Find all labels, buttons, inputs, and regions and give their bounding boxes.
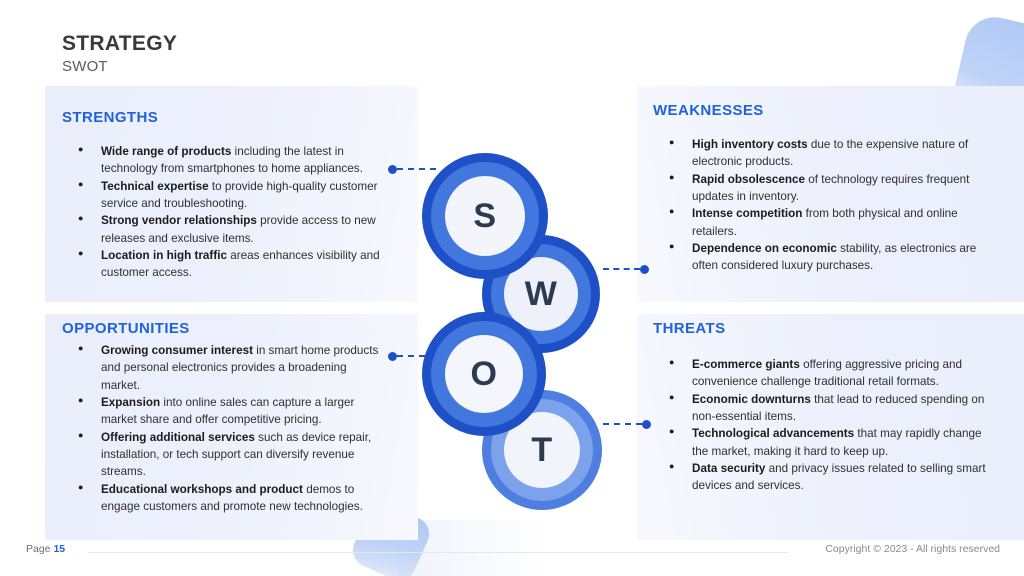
bullet-lead: Growing consumer interest xyxy=(101,344,253,357)
bullet-item: Technical expertise to provide high-qual… xyxy=(70,178,385,213)
bullet-lead: Dependence on economic xyxy=(692,242,837,255)
bullet-lead: Technical expertise xyxy=(101,180,209,193)
bullet-item: Intense competition from both physical a… xyxy=(661,205,1001,240)
bullet-lead: Data security xyxy=(692,462,765,475)
bullet-item: Wide range of products including the lat… xyxy=(70,143,385,178)
bullet-item: Educational workshops and product demos … xyxy=(70,481,388,516)
bullet-item: Offering additional services such as dev… xyxy=(70,429,388,481)
swot-letter-t: T xyxy=(531,431,552,470)
bullet-list-strengths: Wide range of products including the lat… xyxy=(70,143,385,282)
page-title: STRATEGY xyxy=(62,32,177,55)
bullet-item: Expansion into online sales can capture … xyxy=(70,394,388,429)
bullet-lead: Rapid obsolescence xyxy=(692,173,805,186)
bullet-item: E-commerce giants offering aggressive pr… xyxy=(661,356,994,391)
header: STRATEGY SWOT xyxy=(62,32,177,75)
swot-circle-strengths: S xyxy=(422,153,548,279)
heading-opportunities: OPPORTUNITIES xyxy=(62,320,190,337)
bullet-list-threats: E-commerce giants offering aggressive pr… xyxy=(661,356,994,495)
bullet-lead: E-commerce giants xyxy=(692,358,800,371)
bullet-list-opportunities: Growing consumer interest in smart home … xyxy=(70,342,388,515)
bullet-item: High inventory costs due to the expensiv… xyxy=(661,136,1001,171)
bullet-item: Rapid obsolescence of technology require… xyxy=(661,171,1001,206)
footer-page-indicator: Page 15 xyxy=(26,543,65,555)
heading-strengths: STRENGTHS xyxy=(62,109,158,126)
swot-letter-w: W xyxy=(525,275,558,314)
heading-threats: THREATS xyxy=(653,320,726,337)
bullet-lead: Intense competition xyxy=(692,207,802,220)
slide-canvas: STRATEGY SWOT STRENGTHS WEAKNESSES OPPOR… xyxy=(0,0,1024,576)
swot-letter-s: S xyxy=(473,197,496,236)
bullet-lead: Offering additional services xyxy=(101,431,255,444)
bullet-item: Growing consumer interest in smart home … xyxy=(70,342,388,394)
footer-page-label: Page xyxy=(26,543,51,555)
bullet-lead: Educational workshops and product xyxy=(101,483,303,496)
footer-page-number: 15 xyxy=(53,543,65,555)
heading-weaknesses: WEAKNESSES xyxy=(653,102,764,119)
footer-copyright: Copyright © 2023 - All rights reserved xyxy=(825,543,1000,555)
bullet-lead: Wide range of products xyxy=(101,145,231,158)
bullet-lead: Expansion xyxy=(101,396,160,409)
page-subtitle: SWOT xyxy=(62,58,177,75)
bullet-lead: Strong vendor relationships xyxy=(101,214,257,227)
swot-circle-opportunities: O xyxy=(422,312,546,436)
bullet-lead: Location in high traffic xyxy=(101,249,227,262)
footer-divider xyxy=(88,552,788,553)
swot-circles-graphic: S W O T xyxy=(410,145,630,520)
swot-letter-o: O xyxy=(471,355,498,394)
bullet-lead: Technological advancements xyxy=(692,427,854,440)
bullet-item: Data security and privacy issues related… xyxy=(661,460,994,495)
bullet-item: Economic downturns that lead to reduced … xyxy=(661,391,994,426)
bullet-lead: High inventory costs xyxy=(692,138,808,151)
bullet-list-weaknesses: High inventory costs due to the expensiv… xyxy=(661,136,1001,275)
bullet-item: Location in high traffic areas enhances … xyxy=(70,247,385,282)
bullet-item: Strong vendor relationships provide acce… xyxy=(70,212,385,247)
decorative-fade-bottom xyxy=(398,520,548,576)
bullet-item: Dependence on economic stability, as ele… xyxy=(661,240,1001,275)
bullet-lead: Economic downturns xyxy=(692,393,811,406)
bullet-item: Technological advancements that may rapi… xyxy=(661,425,994,460)
